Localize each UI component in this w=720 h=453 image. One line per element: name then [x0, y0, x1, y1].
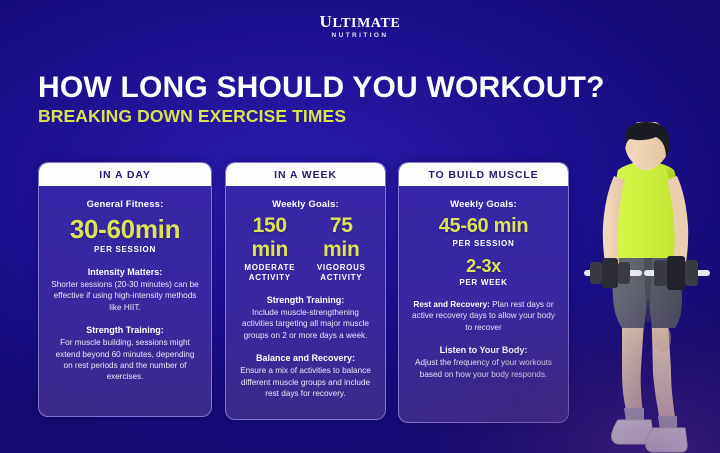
primary-value-caption: PER SESSION	[51, 245, 199, 255]
block-title-balance: Balance and Recovery:	[238, 352, 373, 364]
page-subtitle: BREAKING DOWN EXERCISE TIMES	[38, 107, 346, 126]
block-text-intensity: Shorter sessions (20-30 minutes) can be …	[51, 279, 199, 313]
goal-label: Weekly Goals:	[238, 199, 373, 211]
card-in-a-week: IN A WEEK Weekly Goals: 150 min MODERATE…	[225, 162, 386, 420]
metric-value: 150 min	[238, 214, 302, 262]
primary-value: 45-60 min	[411, 214, 556, 238]
block-rest-and-recovery: Rest and Recovery: Plan rest days or act…	[411, 299, 556, 333]
block-text-strength: Include muscle-strengthening activities …	[238, 307, 373, 341]
block-title-intensity: Intensity Matters:	[51, 266, 199, 278]
secondary-value: 2-3x	[411, 255, 556, 277]
metric-vigorous: 75 min VIGOROUS ACTIVITY	[310, 214, 374, 283]
secondary-value-caption: PER WEEK	[411, 278, 556, 288]
logo-text-ultimate: ULTIMATE	[320, 16, 401, 31]
goal-label: General Fitness:	[51, 199, 199, 211]
block-text-listen: Adjust the frequency of your workouts ba…	[411, 357, 556, 380]
card-body: Weekly Goals: 150 min MODERATE ACTIVITY …	[226, 186, 385, 407]
block-title-strength: Strength Training:	[51, 324, 199, 336]
card-title: TO BUILD MUSCLE	[428, 169, 538, 181]
card-in-a-day: IN A DAY General Fitness: 30-60min PER S…	[38, 162, 212, 417]
card-title: IN A WEEK	[274, 169, 337, 181]
page-title: HOW LONG SHOULD YOU WORKOUT?	[38, 72, 605, 104]
card-title: IN A DAY	[99, 169, 151, 181]
block-text-balance: Ensure a mix of activities to balance di…	[238, 365, 373, 399]
primary-value-caption: PER SESSION	[411, 239, 556, 249]
man-holding-dumbbells-illustration	[578, 122, 720, 453]
metric-caption: MODERATE ACTIVITY	[238, 263, 302, 283]
block-title-listen: Listen to Your Body:	[411, 344, 556, 356]
metric-caption: VIGOROUS ACTIVITY	[310, 263, 374, 283]
brand-logo: ULTIMATE NUTRITION	[0, 14, 720, 39]
metric-moderate: 150 min MODERATE ACTIVITY	[238, 214, 302, 283]
goal-label: Weekly Goals:	[411, 199, 556, 211]
metric-value: 75 min	[310, 214, 374, 262]
block-text-strength: For muscle building, sessions might exte…	[51, 337, 199, 383]
card-header-to-build-muscle: TO BUILD MUSCLE	[399, 163, 568, 186]
card-body: Weekly Goals: 45-60 min PER SESSION 2-3x…	[399, 186, 568, 388]
card-header-in-a-week: IN A WEEK	[226, 163, 385, 186]
card-body: General Fitness: 30-60min PER SESSION In…	[39, 186, 211, 391]
block-title-strength: Strength Training:	[238, 294, 373, 306]
logo-text-nutrition: NUTRITION	[0, 32, 720, 39]
logo-wordmark-primary: ULTIMATE	[0, 14, 720, 31]
card-header-in-a-day: IN A DAY	[39, 163, 211, 186]
primary-value: 30-60min	[51, 214, 199, 244]
block-title-rest: Rest and Recovery:	[413, 300, 489, 309]
metric-row: 150 min MODERATE ACTIVITY 75 min VIGOROU…	[238, 214, 373, 283]
card-to-build-muscle: TO BUILD MUSCLE Weekly Goals: 45-60 min …	[398, 162, 569, 423]
infographic-canvas: ULTIMATE NUTRITION HOW LONG SHOULD YOU W…	[0, 0, 720, 453]
